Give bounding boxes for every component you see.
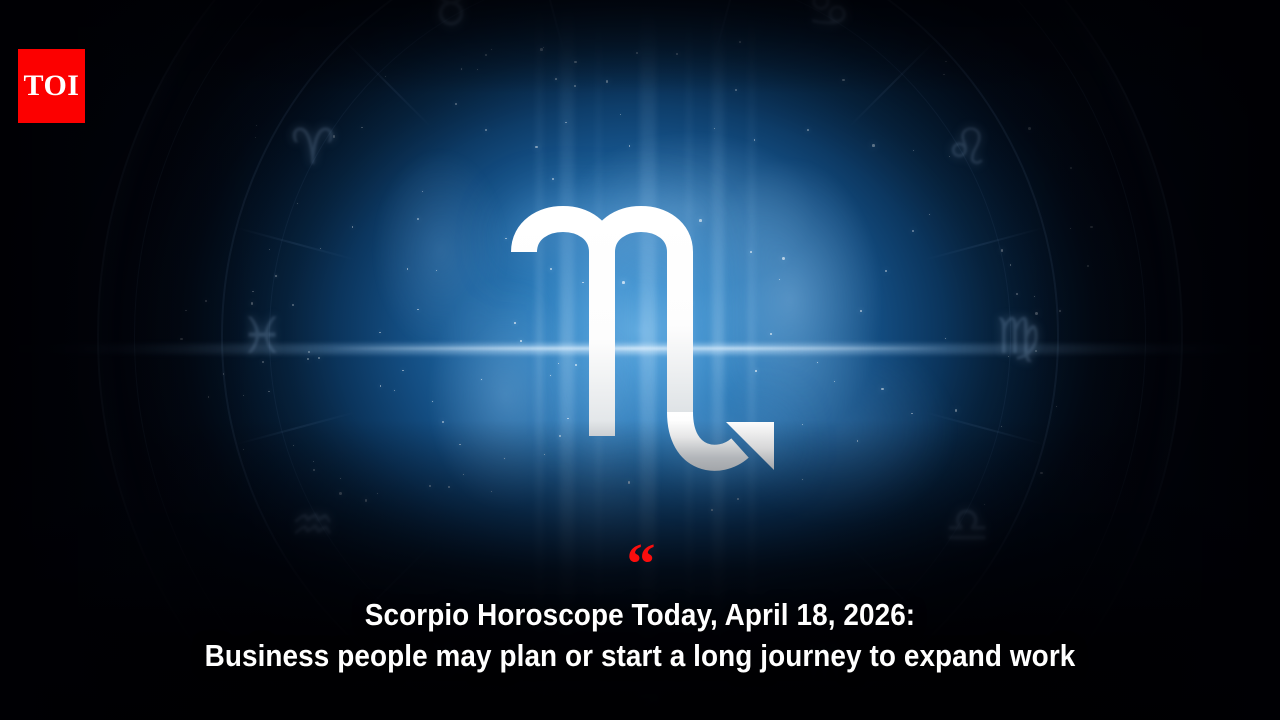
video-frame: ♈♉♊♋♌♍♎♏♐♑♒♓ xyxy=(0,0,1280,720)
toi-logo[interactable]: TOI xyxy=(18,49,85,123)
quote-mark-icon: “ xyxy=(0,549,1280,579)
headline: Scorpio Horoscope Today, April 18, 2026:… xyxy=(64,595,1216,676)
headline-line-2: Business people may plan or start a long… xyxy=(64,636,1216,676)
caption-block: “ Scorpio Horoscope Today, April 18, 202… xyxy=(0,549,1280,676)
headline-line-1: Scorpio Horoscope Today, April 18, 2026: xyxy=(365,597,915,632)
toi-logo-text: TOI xyxy=(24,71,80,101)
